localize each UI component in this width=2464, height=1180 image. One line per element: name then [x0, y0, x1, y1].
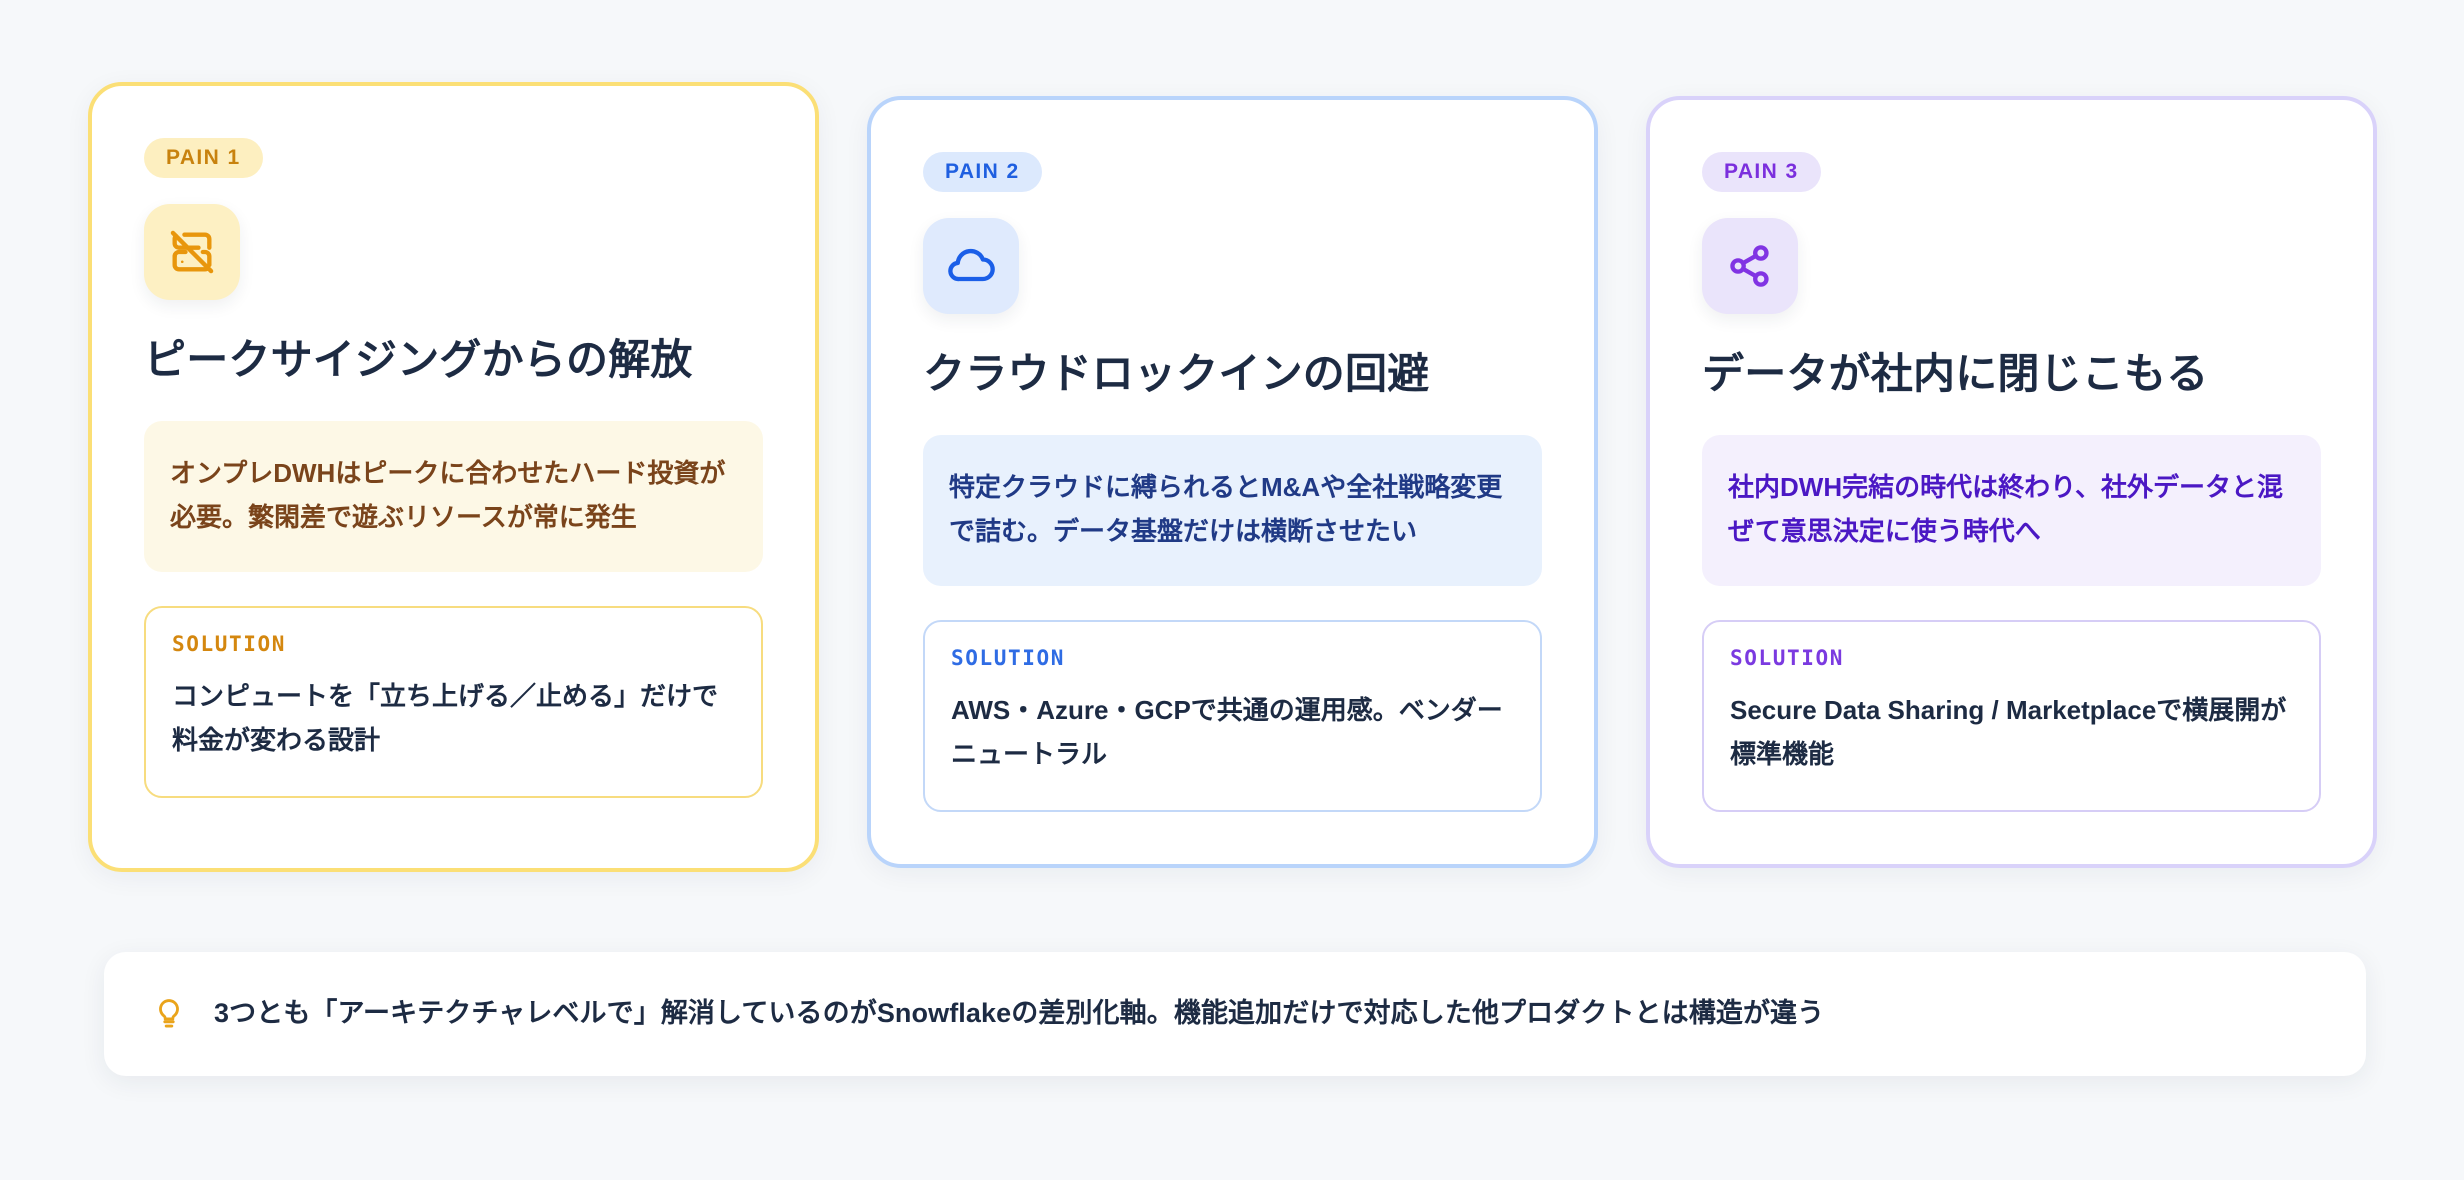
icon-tile-3 — [1702, 218, 1798, 314]
pain-description-1: オンプレDWHはピークに合わせたハード投資が必要。繁閑差で遊ぶリソースが常に発生 — [144, 421, 763, 572]
solution-text-3: Secure Data Sharing / Marketplaceで横展開が標準… — [1730, 689, 2293, 776]
icon-tile-1 — [144, 204, 240, 300]
solution-box-2: SOLUTION AWS・Azure・GCPで共通の運用感。ベンダーニュートラル — [923, 620, 1542, 812]
solution-label-3: SOLUTION — [1730, 648, 2293, 669]
pain-cards-row: PAIN 1 ピークサイジングからの解放 — [88, 82, 2378, 872]
server-off-icon — [166, 226, 218, 278]
solution-text-1: コンピュートを「立ち上げる／止める」だけで料金が変わる設計 — [172, 675, 735, 762]
solution-box-3: SOLUTION Secure Data Sharing / Marketpla… — [1702, 620, 2321, 812]
solution-box-1: SOLUTION コンピュートを「立ち上げる／止める」だけで料金が変わる設計 — [144, 606, 763, 798]
pain-card-title-2: クラウドロックインの回避 — [923, 348, 1542, 401]
summary-text: 3つとも「アーキテクチャレベルで」解消しているのがSnowflakeの差別化軸。… — [214, 996, 1824, 1031]
pain-description-2: 特定クラウドに縛られるとM&Aや全社戦略変更で詰む。データ基盤だけは横断させたい — [923, 435, 1542, 586]
solution-label-2: SOLUTION — [951, 648, 1514, 669]
pain-description-3: 社内DWH完結の時代は終わり、社外データと混ぜて意思決定に使う時代へ — [1702, 435, 2321, 586]
cloud-icon — [945, 240, 997, 292]
pain-badge-1: PAIN 1 — [144, 138, 263, 178]
pain-card-title-1: ピークサイジングからの解放 — [144, 334, 763, 387]
solution-text-2: AWS・Azure・GCPで共通の運用感。ベンダーニュートラル — [951, 689, 1514, 776]
solution-label-1: SOLUTION — [172, 634, 735, 655]
share-nodes-icon — [1724, 240, 1776, 292]
pain-card-3[interactable]: PAIN 3 データが社内に閉じこもる 社内DWH完結の時代は終わり、社外データ… — [1646, 96, 2377, 868]
summary-banner: 3つとも「アーキテクチャレベルで」解消しているのがSnowflakeの差別化軸。… — [104, 952, 2366, 1076]
pain-badge-2: PAIN 2 — [923, 152, 1042, 192]
pain-card-2[interactable]: PAIN 2 クラウドロックインの回避 特定クラウドに縛られるとM&Aや全社戦略… — [867, 96, 1598, 868]
slide-canvas: PAIN 1 ピークサイジングからの解放 — [0, 0, 2464, 1180]
icon-tile-2 — [923, 218, 1019, 314]
pain-badge-3: PAIN 3 — [1702, 152, 1821, 192]
pain-card-title-3: データが社内に閉じこもる — [1702, 348, 2321, 401]
pain-card-1[interactable]: PAIN 1 ピークサイジングからの解放 — [88, 82, 819, 872]
lightbulb-icon — [152, 997, 186, 1031]
